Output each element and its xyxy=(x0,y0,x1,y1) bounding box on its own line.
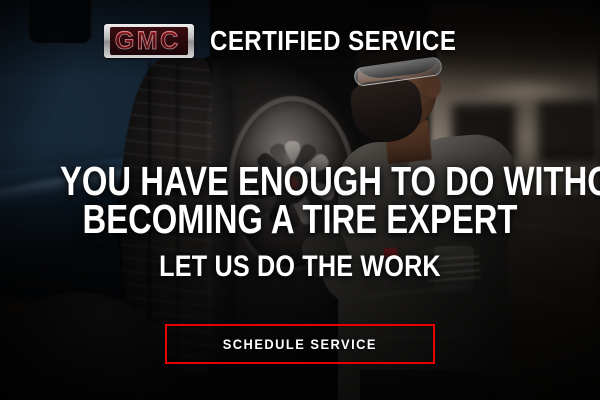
gmc-certified-service-banner: GMC CERTIFIED SERVICE YOU HAVE ENOUGH TO… xyxy=(0,0,600,400)
headline: YOU HAVE ENOUGH TO DO WITHOUT BECOMING A… xyxy=(0,162,600,238)
certified-service-title: CERTIFIED SERVICE xyxy=(210,27,456,55)
schedule-service-label: SCHEDULE SERVICE xyxy=(223,336,377,352)
schedule-service-button[interactable]: SCHEDULE SERVICE xyxy=(165,324,435,364)
brand-header: GMC CERTIFIED SERVICE xyxy=(0,24,600,58)
gmc-logo-text: GMC xyxy=(115,27,183,55)
banner-content: GMC CERTIFIED SERVICE YOU HAVE ENOUGH TO… xyxy=(0,0,600,400)
gmc-logo-inner: GMC xyxy=(110,27,188,55)
subheadline: LET US DO THE WORK xyxy=(48,252,552,282)
headline-line-2: BECOMING A TIRE EXPERT xyxy=(60,200,540,238)
headline-line-1: YOU HAVE ENOUGH TO DO WITHOUT xyxy=(60,162,540,200)
gmc-logo-icon: GMC xyxy=(104,24,194,58)
